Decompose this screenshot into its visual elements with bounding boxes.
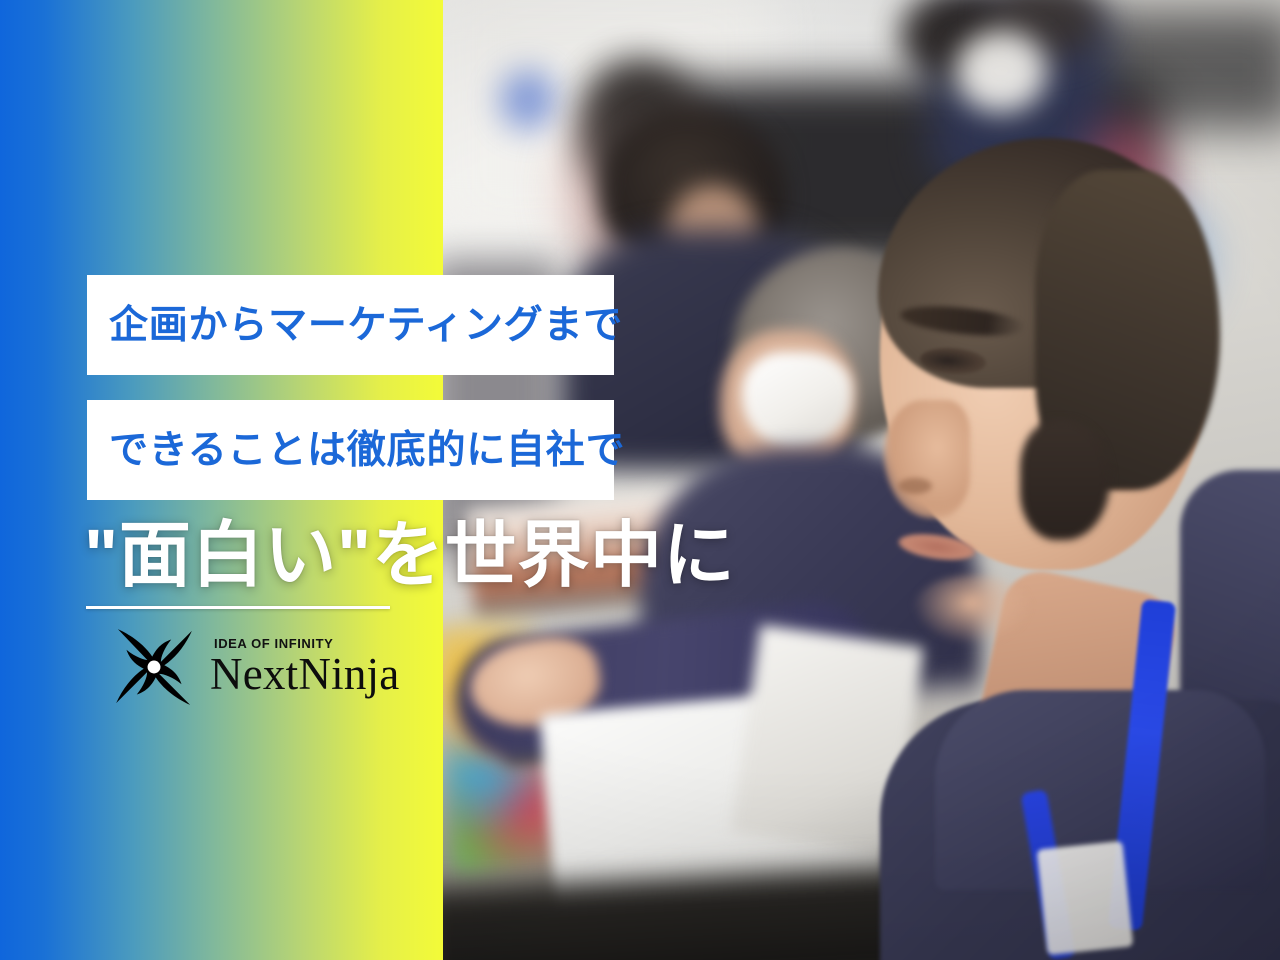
photo-subject-sideburn xyxy=(1020,420,1110,540)
hero-badge-1: 企画からマーケティングまで xyxy=(87,275,614,375)
hero-headline-underline xyxy=(86,606,390,609)
hero-badge-list: 企画からマーケティングまで できることは徹底的に自社で xyxy=(87,275,614,500)
brand-logo-text: IDEA OF INFINITY NextNinja xyxy=(210,637,399,697)
photo-blur-blue-object xyxy=(500,70,556,130)
photo-subject-chin xyxy=(912,575,1032,645)
hero-headline: "面白い"を世界中に xyxy=(84,520,844,593)
shuriken-icon xyxy=(108,624,200,710)
hero-badge-2: できることは徹底的に自社で xyxy=(87,400,614,500)
hero-badge-1-label: 企画からマーケティングまで xyxy=(109,306,623,345)
photo-blur-face-mask xyxy=(955,30,1047,112)
hero-badge-2-label: できることは徹底的に自社で xyxy=(109,431,625,470)
hero-banner: "面白い"を世界中に 企画からマーケティングまで できることは徹底的に自社で I… xyxy=(0,0,1280,960)
brand-name: NextNinja xyxy=(210,652,399,697)
photo-subject-nostril xyxy=(898,478,932,494)
brand-logo[interactable]: IDEA OF INFINITY NextNinja xyxy=(108,624,399,710)
photo-subject-id-badge xyxy=(1037,841,1134,955)
